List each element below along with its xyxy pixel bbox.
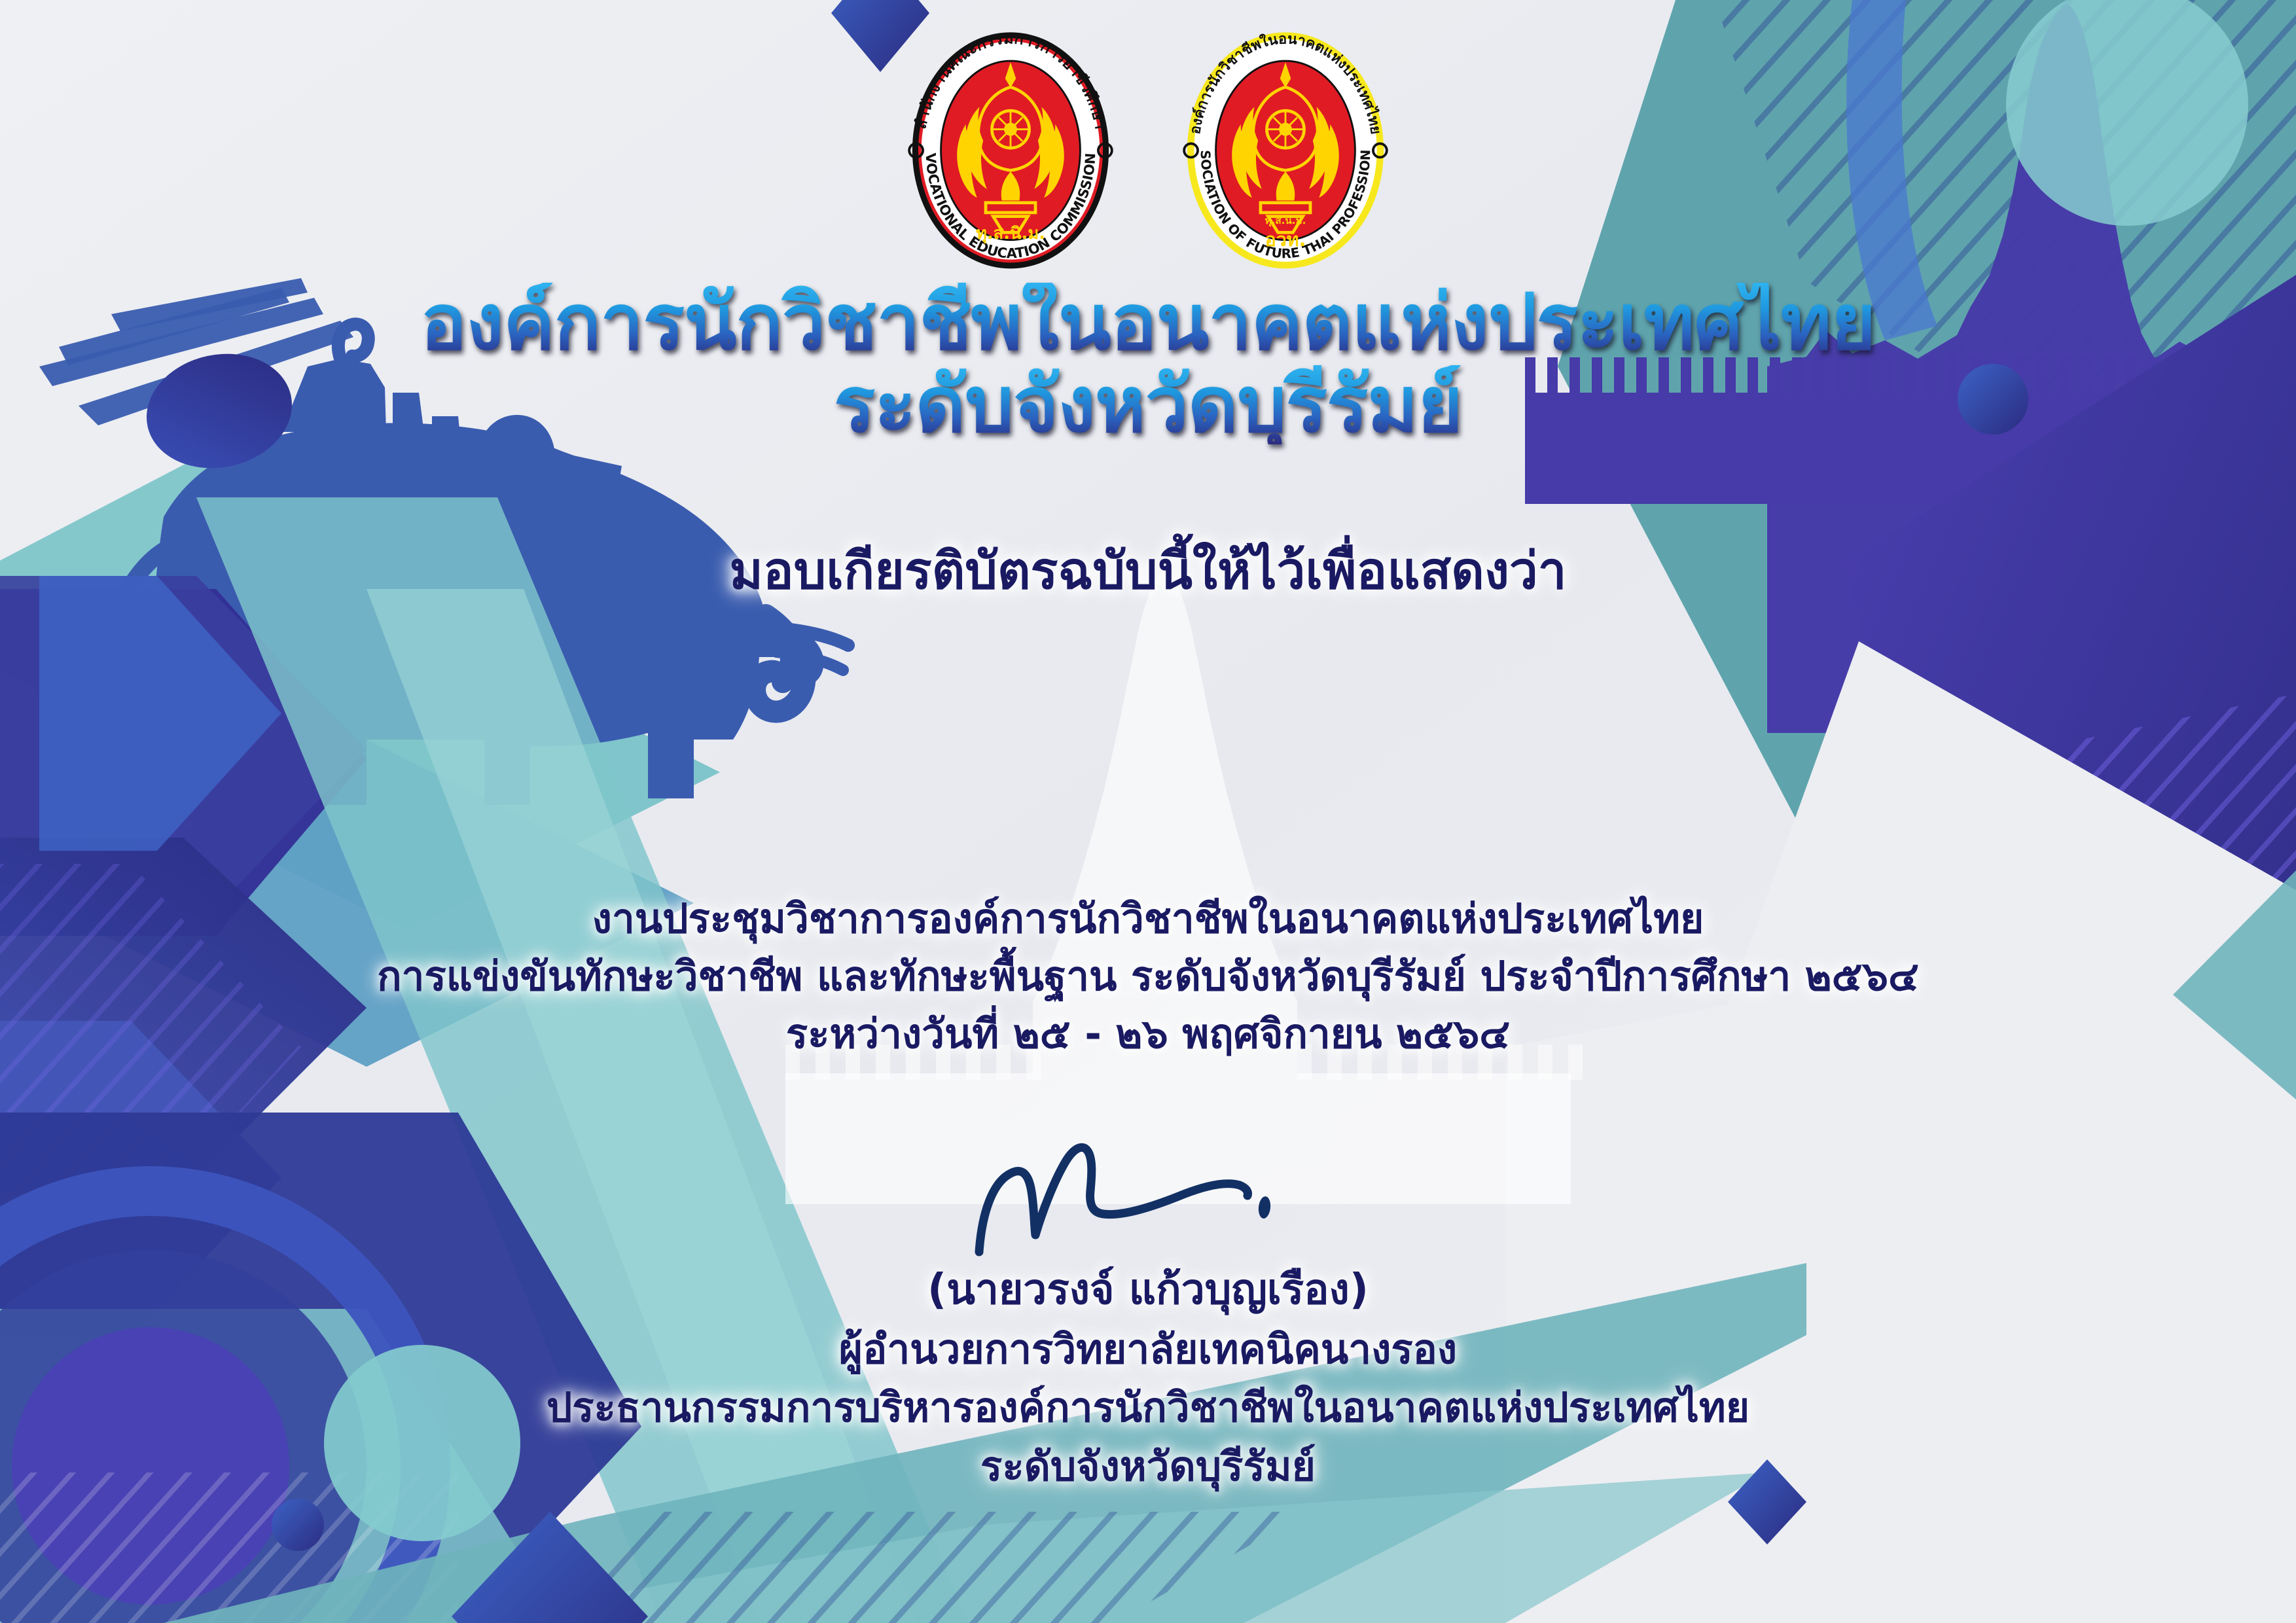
signature-block	[919, 1135, 1377, 1260]
certificate-page: สำนักงานคณะกรรมการการอาชีวศึกษา VOCATION…	[0, 0, 2296, 1623]
certificate-content: สำนักงานคณะกรรมการการอาชีวศึกษา VOCATION…	[0, 0, 2296, 1623]
signer-block: (นายวรงจ์ แก้วบุญเรือง) ผู้อำนวยการวิทยา…	[0, 1260, 2296, 1495]
association-of-future-thai-professionals-seal: องค์การนักวิชาชีพในอนาคตแห่งประเทศไทย AS…	[1161, 18, 1410, 280]
signer-position-1: ผู้อำนวยการวิทยาลัยเทคนิคนางรอง	[0, 1320, 2296, 1378]
signer-position-2: ประธานกรรมการบริหารองค์การนักวิชาชีพในอน…	[0, 1378, 2296, 1436]
certificate-subtitle: มอบเกียรติบัตรฉบับนี้ให้ไว้เพื่อแสดงว่า	[0, 530, 2296, 611]
seal-center-abbrev: อวท.	[1265, 229, 1306, 251]
signer-name: (นายวรงจ์ แก้วบุญเรือง)	[0, 1260, 2296, 1320]
body-line-3: ระหว่างวันที่ ๒๕ - ๒๖ พฤศจิกายน ๒๕๖๔	[0, 1005, 2296, 1063]
body-line-1: งานประชุมวิชาการองค์การนักวิชาชีพในอนาคต…	[0, 890, 2296, 948]
title-line-2: ระดับจังหวัดบุรีรัมย์	[0, 365, 2296, 444]
body-line-2: การแข่งขันทักษะวิชาชีพ และทักษะพื้นฐาน ร…	[0, 948, 2296, 1005]
title-line-1: องค์การนักวิชาชีพในอนาคตแห่งประเทศไทย	[0, 283, 2296, 361]
signer-position-3: ระดับจังหวัดบุรีรัมย์	[0, 1437, 2296, 1495]
seal-center-abbrev-small: ทุ.ส.นิ.ม.	[1265, 215, 1306, 227]
seal-center-abbrev: ทุ.ส.นิ.ม.	[976, 224, 1045, 244]
vocational-education-commission-seal: สำนักงานคณะกรรมการการอาชีวศึกษา VOCATION…	[886, 18, 1135, 280]
seals-row: สำนักงานคณะกรรมการการอาชีวศึกษา VOCATION…	[886, 18, 1410, 280]
signature-mark	[919, 1135, 1377, 1260]
certificate-body: งานประชุมวิชาการองค์การนักวิชาชีพในอนาคต…	[0, 890, 2296, 1063]
certificate-title: องค์การนักวิชาชีพในอนาคตแห่งประเทศไทย ระ…	[0, 283, 2296, 444]
